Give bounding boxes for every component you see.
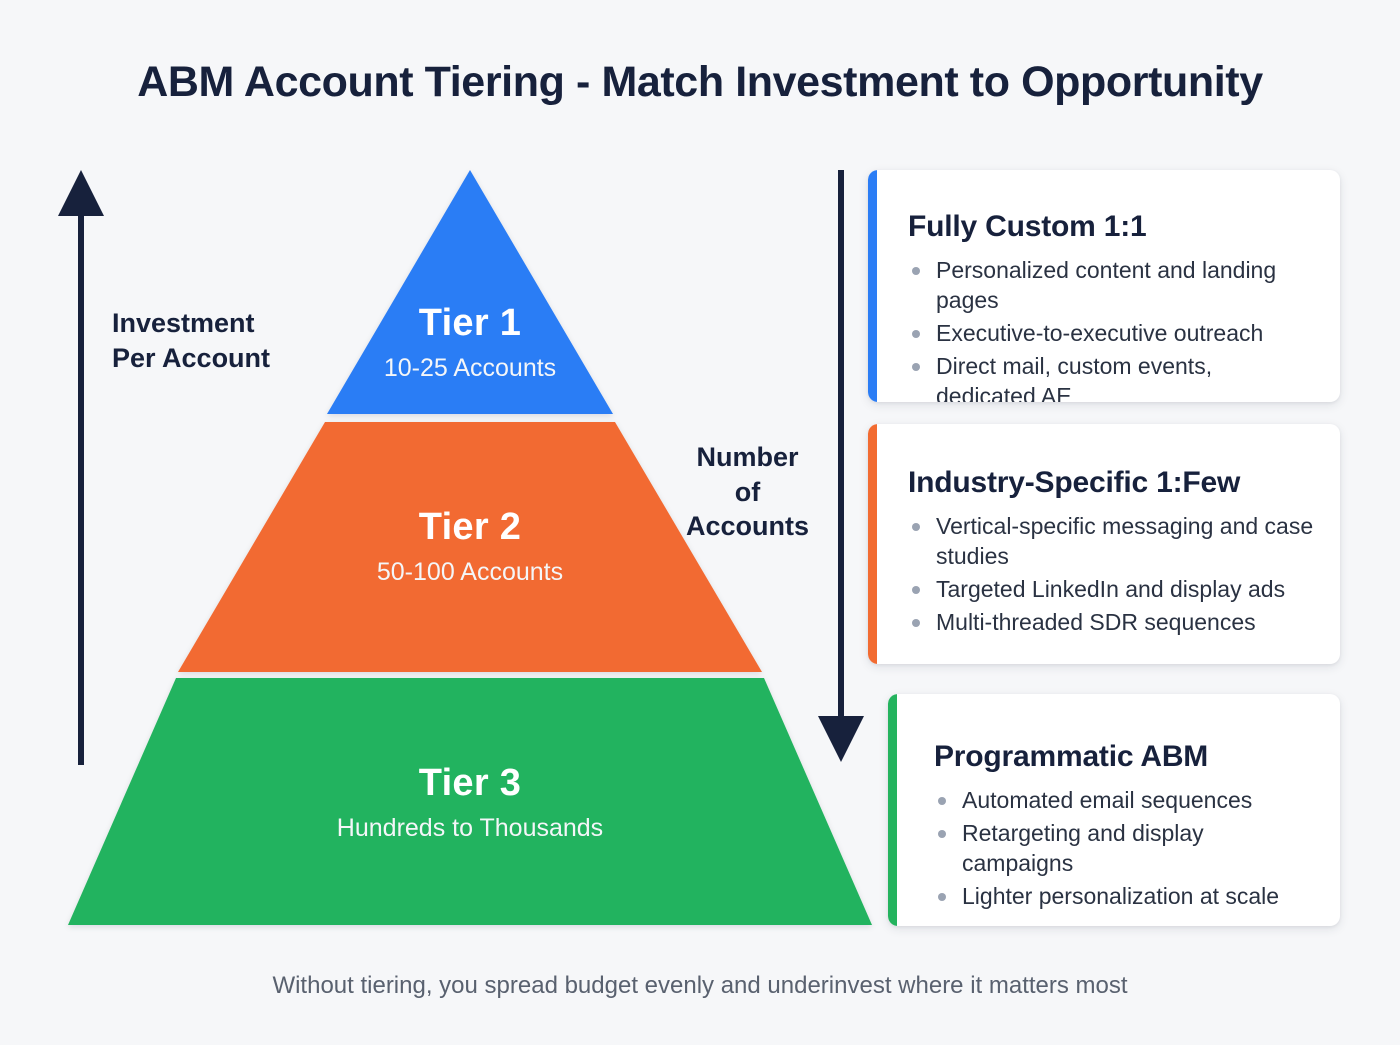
card-2-bullet-1: Vertical-specific messaging and case stu… (936, 513, 1313, 569)
bullet-dot-icon (912, 586, 920, 594)
tier-2-detail-card[interactable]: Industry-Specific 1:Few Vertical-specifi… (868, 424, 1340, 664)
bullet-dot-icon (912, 363, 920, 371)
list-item: Multi-threaded SDR sequences (908, 608, 1314, 638)
bullet-dot-icon (912, 267, 920, 275)
card-3-bullet-list: Automated email sequences Retargeting an… (934, 786, 1314, 912)
bullet-dot-icon (938, 797, 946, 805)
card-1-bullet-1: Personalized content and landing pages (936, 257, 1276, 313)
card-1-bullet-list: Personalized content and landing pages E… (908, 256, 1314, 402)
list-item: Retargeting and display campaigns (934, 819, 1314, 879)
card-1-bullet-3: Direct mail, custom events, dedicated AE (936, 353, 1212, 402)
card-1-bullet-2: Executive-to-executive outreach (936, 320, 1263, 346)
bullet-dot-icon (938, 893, 946, 901)
footer-note: Without tiering, you spread budget evenl… (0, 972, 1400, 1000)
card-2-bullet-list: Vertical-specific messaging and case stu… (908, 512, 1314, 638)
card-3-bullet-3: Lighter personalization at scale (962, 883, 1279, 909)
card-2-bullet-2: Targeted LinkedIn and display ads (936, 576, 1285, 602)
card-2-title: Industry-Specific 1:Few (908, 466, 1314, 500)
card-1-body: Fully Custom 1:1 Personalized content an… (868, 170, 1340, 402)
card-3-body: Programmatic ABM Automated email sequenc… (888, 694, 1340, 926)
pyramid-tier-3-shape (68, 678, 872, 925)
investment-axis-label: Investment Per Account (112, 306, 342, 375)
card-1-accent-bar (868, 170, 877, 402)
accounts-axis-line-3: Accounts (660, 509, 835, 544)
card-3-accent-bar (888, 694, 897, 926)
card-3-bullet-1: Automated email sequences (962, 787, 1252, 813)
list-item: Direct mail, custom events, dedicated AE (908, 352, 1314, 402)
card-1-title: Fully Custom 1:1 (908, 210, 1314, 244)
accounts-axis-line-2: of (660, 475, 835, 510)
bullet-dot-icon (912, 619, 920, 627)
infographic-canvas: ABM Account Tiering - Match Investment t… (0, 0, 1400, 1045)
tier-3-detail-card[interactable]: Programmatic ABM Automated email sequenc… (888, 694, 1340, 926)
investment-axis-line-1: Investment (112, 306, 342, 341)
list-item: Vertical-specific messaging and case stu… (908, 512, 1314, 572)
arrow-up-icon (58, 170, 104, 765)
card-3-title: Programmatic ABM (934, 740, 1314, 774)
list-item: Automated email sequences (934, 786, 1314, 816)
bullet-dot-icon (912, 523, 920, 531)
card-2-bullet-3: Multi-threaded SDR sequences (936, 609, 1256, 635)
tier-1-detail-card[interactable]: Fully Custom 1:1 Personalized content an… (868, 170, 1340, 402)
card-2-body: Industry-Specific 1:Few Vertical-specifi… (868, 424, 1340, 661)
list-item: Lighter personalization at scale (934, 882, 1314, 912)
list-item: Executive-to-executive outreach (908, 319, 1314, 349)
pyramid-tier-1-shape (327, 170, 613, 414)
card-2-accent-bar (868, 424, 877, 664)
list-item: Personalized content and landing pages (908, 256, 1314, 316)
accounts-axis-label: Number of Accounts (660, 440, 835, 544)
card-3-bullet-2: Retargeting and display campaigns (962, 820, 1204, 876)
accounts-axis-line-1: Number (660, 440, 835, 475)
bullet-dot-icon (912, 330, 920, 338)
bullet-dot-icon (938, 830, 946, 838)
investment-axis-line-2: Per Account (112, 341, 342, 376)
list-item: Targeted LinkedIn and display ads (908, 575, 1314, 605)
